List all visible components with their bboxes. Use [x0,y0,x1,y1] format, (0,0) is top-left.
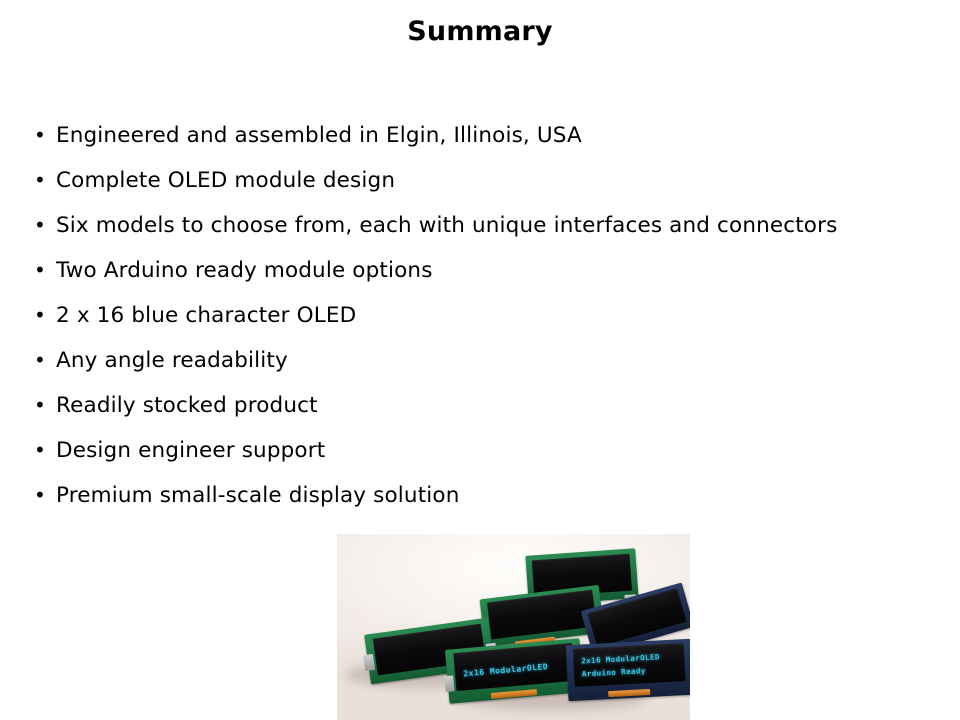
bullet-marker-icon: • [30,293,56,338]
page-title: Summary [0,16,960,47]
product-photo: 2x16 ModularOLED 2x16 ModularOLED Arduin… [337,534,690,720]
list-item: • Any angle readability [30,338,940,383]
bullet-marker-icon: • [30,203,56,248]
list-item: • 2 x 16 blue character OLED [30,293,940,338]
list-item-label: Any angle readability [56,338,288,383]
list-item-label: Readily stocked product [56,383,318,428]
list-item: • Six models to choose from, each with u… [30,203,940,248]
list-item: • Design engineer support [30,428,940,473]
bullet-marker-icon: • [30,338,56,383]
list-item-label: Design engineer support [56,428,325,473]
list-item-label: Engineered and assembled in Elgin, Illin… [56,113,582,158]
list-item: • Readily stocked product [30,383,940,428]
list-item-label: 2 x 16 blue character OLED [56,293,356,338]
oled-display-line: Arduino Ready [582,666,646,678]
list-item: • Complete OLED module design [30,158,940,203]
bullet-marker-icon: • [30,383,56,428]
module-right-arduino: 2x16 ModularOLED Arduino Ready [566,639,690,701]
list-item-label: Premium small-scale display solution [56,473,459,518]
list-item-label: Complete OLED module design [56,158,395,203]
oled-display-line: 2x16 ModularOLED [581,653,660,666]
summary-bullet-list: • Engineered and assembled in Elgin, Ill… [30,113,940,518]
mounting-tab [444,675,454,692]
bullet-marker-icon: • [30,428,56,473]
bullet-marker-icon: • [30,158,56,203]
bullet-marker-icon: • [30,248,56,293]
bullet-marker-icon: • [30,113,56,158]
oled-screen: 2x16 ModularOLED Arduino Ready [573,643,686,687]
bullet-marker-icon: • [30,473,56,518]
oled-display-line: 2x16 ModularOLED [463,663,549,679]
list-item-label: Two Arduino ready module options [56,248,433,293]
mounting-tab [363,654,375,671]
list-item: • Engineered and assembled in Elgin, Ill… [30,113,940,158]
list-item-label: Six models to choose from, each with uni… [56,203,837,248]
list-item: • Premium small-scale display solution [30,473,940,518]
list-item: • Two Arduino ready module options [30,248,940,293]
